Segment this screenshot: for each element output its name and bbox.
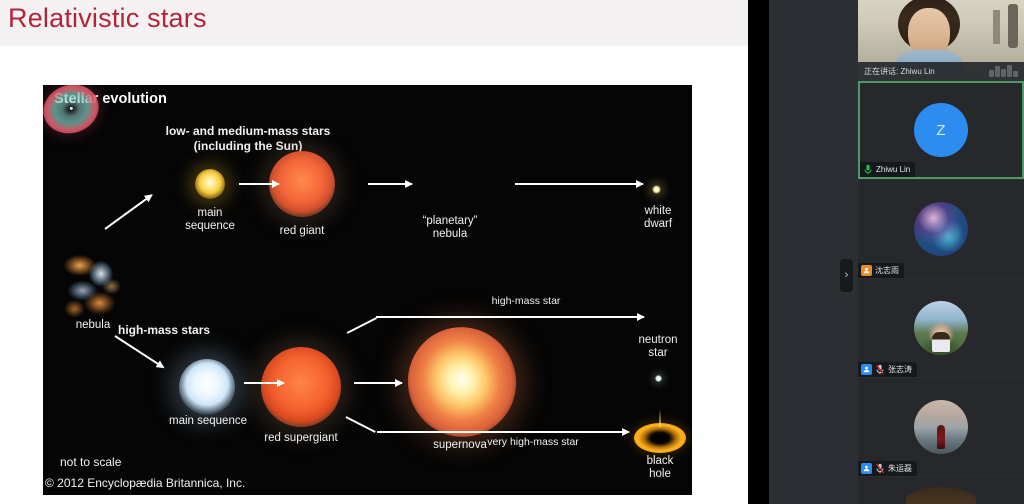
avatar-photo [914, 202, 968, 256]
label-main-sequence-high: main sequence [149, 415, 267, 428]
arrow-planetary-to-whitedwarf [515, 183, 643, 185]
participant-namebar: Zhiwu Lin [860, 162, 915, 177]
label-red-supergiant: red supergiant [241, 432, 361, 445]
white-dwarf-star-icon [652, 185, 661, 194]
label-white-dwarf: white dwarf [618, 205, 692, 231]
label-high-mass-star-branch: high-mass star [451, 296, 601, 308]
avatar-photo [914, 301, 968, 355]
arrow-redgiant-to-planetary [368, 183, 412, 185]
copyright-notice: © 2012 Encyclopædia Britannica, Inc. [45, 477, 375, 490]
page-title: Relativistic stars [8, 3, 207, 34]
audio-wave-icon [989, 65, 1018, 77]
branch-line-blackhole [346, 416, 376, 432]
main-sequence-star-icon [195, 169, 225, 199]
participant-tile-zhiwu-lin[interactable]: Z Zhiwu Lin [858, 81, 1024, 179]
participant-name: 朱运磊 [888, 463, 912, 474]
participant-video-feed [908, 491, 974, 504]
label-neutron-star: neutron star [617, 334, 692, 360]
red-supergiant-star-icon [261, 347, 341, 427]
microphone-muted-icon [875, 364, 885, 375]
participant-tile-video-speaker[interactable]: 正在讲话: Zhiwu Lin [858, 0, 1024, 80]
arrow-supergiant-to-supernova [354, 382, 402, 384]
black-hole-icon [634, 423, 686, 453]
participant-namebar: 张志涛 [858, 362, 917, 377]
participant-name: 张志涛 [888, 364, 912, 375]
participant-badge-icon [861, 265, 872, 276]
chevron-right-icon: › [845, 270, 849, 281]
label-red-giant: red giant [248, 225, 356, 238]
collapse-filmstrip-handle[interactable]: › [840, 259, 853, 292]
label-black-hole: black hole [620, 455, 692, 481]
screen-root: Relativistic stars Stellar evolution low… [0, 0, 1024, 504]
branch-line-neutron [347, 317, 377, 333]
microphone-muted-icon [875, 463, 885, 474]
participant-name: 沈志雨 [875, 265, 899, 276]
arrow-mainseq-to-redgiant [239, 183, 279, 185]
arrow-to-black-hole [377, 431, 629, 433]
video-hair [906, 487, 976, 504]
high-mass-heading: high-mass stars [118, 324, 298, 337]
participant-badge-icon [861, 364, 872, 375]
microphone-unmuted-icon [863, 164, 873, 175]
avatar-initial-letter: Z [936, 122, 945, 139]
video-background-object [993, 10, 1000, 44]
participant-tile-zhang-zhitao[interactable]: 张志涛 [858, 279, 1024, 377]
shared-screen-slide: Relativistic stars Stellar evolution low… [0, 0, 748, 504]
active-speaker-bar: 正在讲话: Zhiwu Lin [858, 62, 1024, 80]
not-to-scale-note: not to scale [60, 456, 220, 469]
participant-tile-partial[interactable] [858, 477, 1024, 504]
participant-filmstrip[interactable]: 正在讲话: Zhiwu Lin Z Zhiwu Lin [858, 0, 1024, 504]
label-planetary-nebula: “planetary” nebula [390, 215, 510, 241]
label-very-high-mass-star-branch: very high-mass star [438, 437, 628, 449]
participant-badge-icon [861, 463, 872, 474]
main-sequence-high-star-icon [179, 359, 235, 415]
avatar-photo [914, 400, 968, 454]
low-mass-heading-line1: low- and medium-mass stars [123, 125, 373, 138]
arrow-nebula-to-highmass [114, 335, 164, 368]
label-nebula: nebula [53, 319, 133, 332]
low-mass-heading-line2: (including the Sun) [123, 140, 373, 153]
participant-namebar: 朱运磊 [858, 461, 917, 476]
speaking-label: 正在讲话: Zhiwu Lin [864, 66, 935, 77]
arrow-mainseqhigh-to-supergiant [244, 382, 284, 384]
screen-letterbox [748, 0, 769, 504]
participant-namebar: 沈志雨 [858, 263, 904, 278]
stellar-evolution-diagram: Stellar evolution low- and medium-mass s… [43, 85, 692, 495]
neutron-star-icon [655, 375, 662, 382]
nebula-cloud-icon [60, 250, 126, 320]
participant-tile-shen-zhiyu[interactable]: 沈志雨 [858, 180, 1024, 278]
participant-tile-zhu-yunlei[interactable]: 朱运磊 [858, 378, 1024, 476]
participant-name: Zhiwu Lin [876, 165, 910, 174]
arrow-nebula-to-lowmass [104, 194, 152, 230]
avatar-initial: Z [914, 103, 968, 157]
arrow-to-neutron-star [376, 316, 644, 318]
video-background-object-2 [1008, 4, 1018, 48]
